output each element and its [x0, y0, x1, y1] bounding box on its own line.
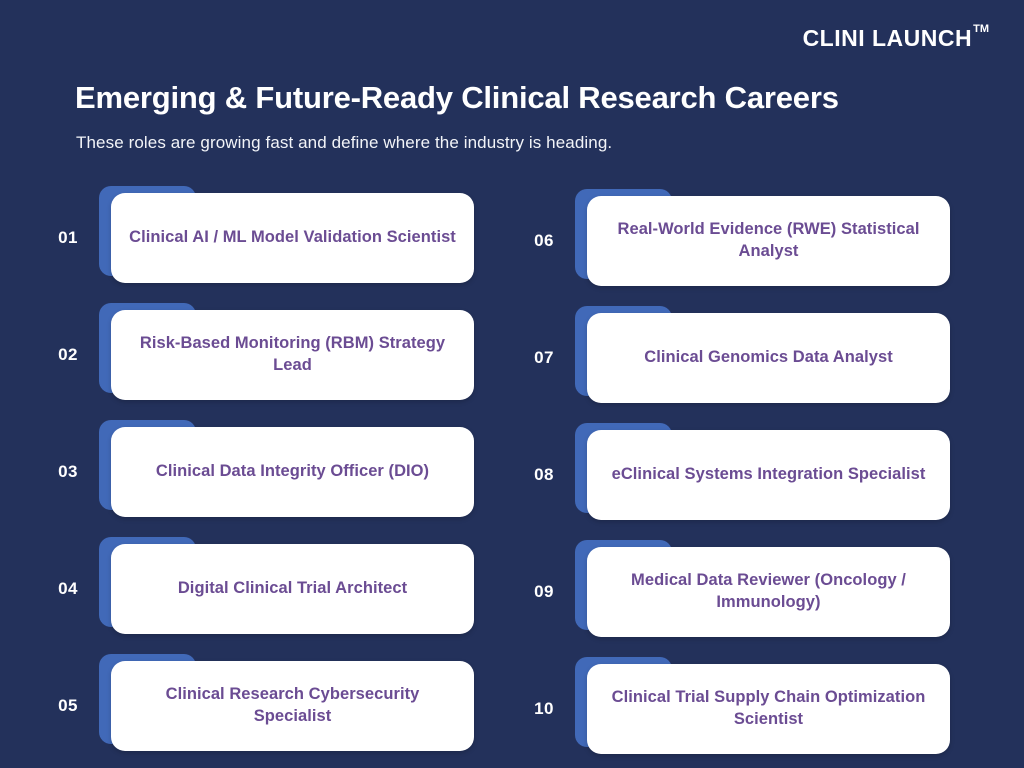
career-card[interactable]: Risk-Based Monitoring (RBM) Strategy Lea… — [111, 310, 474, 400]
career-card[interactable]: Clinical Genomics Data Analyst — [587, 313, 950, 403]
card-stack: eClinical Systems Integration Specialist — [575, 423, 950, 527]
career-row[interactable]: 08 eClinical Systems Integration Special… — [520, 423, 950, 527]
card-number: 04 — [44, 537, 92, 641]
card-stack: Clinical Trial Supply Chain Optimization… — [575, 657, 950, 761]
card-number: 01 — [44, 186, 92, 290]
card-stack: Clinical AI / ML Model Validation Scient… — [99, 186, 474, 290]
career-card[interactable]: Medical Data Reviewer (Oncology / Immuno… — [587, 547, 950, 637]
card-stack: Digital Clinical Trial Architect — [99, 537, 474, 641]
career-row[interactable]: 05 Clinical Research Cybersecurity Speci… — [44, 654, 474, 758]
career-card[interactable]: Clinical AI / ML Model Validation Scient… — [111, 193, 474, 283]
card-stack: Medical Data Reviewer (Oncology / Immuno… — [575, 540, 950, 644]
card-number: 02 — [44, 303, 92, 407]
card-stack: Clinical Data Integrity Officer (DIO) — [99, 420, 474, 524]
card-number: 07 — [520, 306, 568, 410]
career-row[interactable]: 09 Medical Data Reviewer (Oncology / Imm… — [520, 540, 950, 644]
career-row[interactable]: 02 Risk-Based Monitoring (RBM) Strategy … — [44, 303, 474, 407]
card-stack: Clinical Genomics Data Analyst — [575, 306, 950, 410]
career-card[interactable]: eClinical Systems Integration Specialist — [587, 430, 950, 520]
career-card-label: Clinical Data Integrity Officer (DIO) — [142, 461, 443, 483]
career-card-label: Clinical Genomics Data Analyst — [630, 347, 906, 369]
career-row[interactable]: 03 Clinical Data Integrity Officer (DIO) — [44, 420, 474, 524]
card-number: 10 — [520, 657, 568, 761]
card-number: 09 — [520, 540, 568, 644]
career-card-label: Clinical Research Cybersecurity Speciali… — [111, 684, 474, 728]
career-row[interactable]: 06 Real-World Evidence (RWE) Statistical… — [520, 189, 950, 293]
career-card-grid: 01 Clinical AI / ML Model Validation Sci… — [0, 0, 1024, 768]
career-card-label: Medical Data Reviewer (Oncology / Immuno… — [587, 570, 950, 614]
card-stack: Risk-Based Monitoring (RBM) Strategy Lea… — [99, 303, 474, 407]
career-card-label: Digital Clinical Trial Architect — [164, 578, 421, 600]
career-row[interactable]: 07 Clinical Genomics Data Analyst — [520, 306, 950, 410]
career-card-label: Risk-Based Monitoring (RBM) Strategy Lea… — [111, 333, 474, 377]
career-card[interactable]: Real-World Evidence (RWE) Statistical An… — [587, 196, 950, 286]
card-number: 08 — [520, 423, 568, 527]
career-row[interactable]: 04 Digital Clinical Trial Architect — [44, 537, 474, 641]
card-number: 05 — [44, 654, 92, 758]
career-card[interactable]: Digital Clinical Trial Architect — [111, 544, 474, 634]
career-card-label: Real-World Evidence (RWE) Statistical An… — [587, 219, 950, 263]
infographic-page: CLINI LAUNCH TM Emerging & Future-Ready … — [0, 0, 1024, 768]
career-card-label: eClinical Systems Integration Specialist — [598, 464, 940, 486]
card-number: 03 — [44, 420, 92, 524]
career-card[interactable]: Clinical Research Cybersecurity Speciali… — [111, 661, 474, 751]
card-number: 06 — [520, 189, 568, 293]
card-stack: Clinical Research Cybersecurity Speciali… — [99, 654, 474, 758]
career-card-label: Clinical AI / ML Model Validation Scient… — [115, 227, 470, 249]
career-card[interactable]: Clinical Data Integrity Officer (DIO) — [111, 427, 474, 517]
career-card-label: Clinical Trial Supply Chain Optimization… — [587, 687, 950, 731]
career-row[interactable]: 01 Clinical AI / ML Model Validation Sci… — [44, 186, 474, 290]
card-stack: Real-World Evidence (RWE) Statistical An… — [575, 189, 950, 293]
career-row[interactable]: 10 Clinical Trial Supply Chain Optimizat… — [520, 657, 950, 761]
career-card[interactable]: Clinical Trial Supply Chain Optimization… — [587, 664, 950, 754]
